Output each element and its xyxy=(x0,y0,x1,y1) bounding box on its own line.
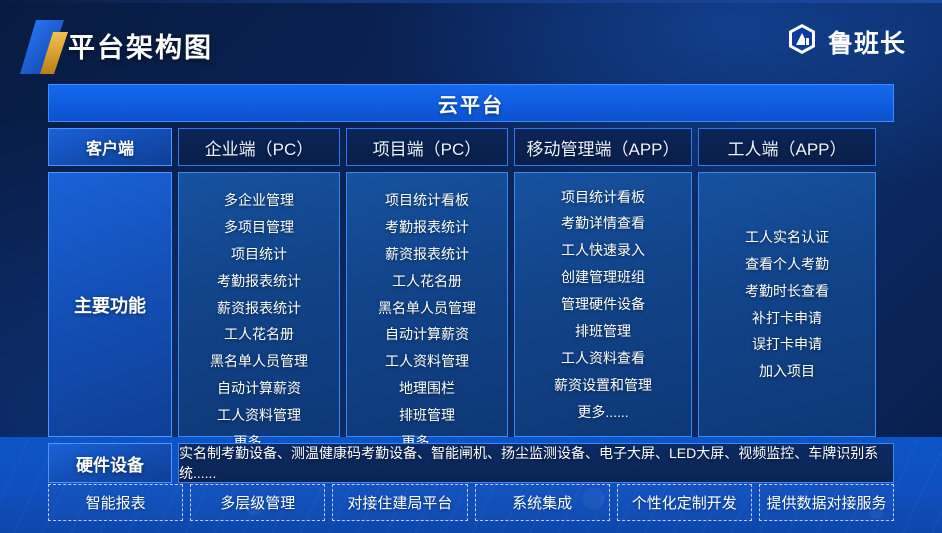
list-item-more[interactable]: 更多...... xyxy=(577,399,628,426)
list-item: 考勤时长查看 xyxy=(745,278,829,305)
list-item: 工人实名认证 xyxy=(745,224,829,251)
column-header-enterprise[interactable]: 企业端（PC） xyxy=(178,128,340,166)
list-item: 自动计算薪资 xyxy=(217,375,301,402)
chip-smart-reports[interactable]: 智能报表 xyxy=(48,484,183,521)
function-list-mobile-admin: 项目统计看板 考勤详情查看 工人快速录入 创建管理班组 管理硬件设备 排班管理 … xyxy=(514,172,692,437)
brand-logo: 鲁班长 xyxy=(785,22,906,61)
hardware-row: 硬件设备 实名制考勤设备、测温健康码考勤设备、智能闸机、扬尘监测设备、电子大屏、… xyxy=(48,443,894,483)
list-item: 地理围栏 xyxy=(399,375,455,402)
chip-multilevel-mgmt[interactable]: 多层级管理 xyxy=(190,484,325,521)
function-list-worker: 工人实名认证 查看个人考勤 考勤时长查看 补打卡申请 误打卡申请 加入项目 xyxy=(698,172,876,437)
list-item: 补打卡申请 xyxy=(752,305,822,332)
hexagon-building-icon xyxy=(785,22,819,61)
column-header-row: 客户端 企业端（PC） 项目端（PC） 移动管理端（APP） 工人端（APP） xyxy=(48,128,894,166)
list-item: 管理硬件设备 xyxy=(561,291,645,318)
platform-architecture-diagram: 平台架构图 鲁班长 云平台 客户端 企业端（PC） 项目端（PC） 移动管理端（… xyxy=(0,0,942,533)
architecture-grid: 云平台 客户端 企业端（PC） 项目端（PC） 移动管理端（APP） 工人端（A… xyxy=(48,84,894,483)
list-item: 多企业管理 xyxy=(224,187,294,214)
list-item: 自动计算薪资 xyxy=(385,321,469,348)
page-title: 平台架构图 xyxy=(68,26,213,65)
list-item: 多项目管理 xyxy=(224,214,294,241)
list-item: 工人资料查看 xyxy=(561,345,645,372)
list-item: 黑名单人员管理 xyxy=(378,295,476,322)
logo-text: 鲁班长 xyxy=(828,24,906,60)
main-functions-row: 主要功能 多企业管理 多项目管理 项目统计 考勤报表统计 薪资报表统计 工人花名… xyxy=(48,172,894,437)
column-header-project[interactable]: 项目端（PC） xyxy=(346,128,508,166)
capability-chip-row: 智能报表 多层级管理 对接住建局平台 系统集成 个性化定制开发 提供数据对接服务 xyxy=(48,484,894,521)
list-item: 工人花名册 xyxy=(392,268,462,295)
cloud-platform-bar: 云平台 xyxy=(48,84,894,122)
function-list-project: 项目统计看板 考勤报表统计 薪资报表统计 工人花名册 黑名单人员管理 自动计算薪… xyxy=(346,172,508,437)
list-item: 项目统计看板 xyxy=(385,187,469,214)
list-item: 加入项目 xyxy=(759,358,815,385)
chip-govt-platform[interactable]: 对接住建局平台 xyxy=(332,484,467,521)
list-item: 黑名单人员管理 xyxy=(210,348,308,375)
list-item: 薪资设置和管理 xyxy=(554,372,652,399)
chip-data-service[interactable]: 提供数据对接服务 xyxy=(759,484,894,521)
list-item: 考勤详情查看 xyxy=(561,210,645,237)
function-list-enterprise: 多企业管理 多项目管理 项目统计 考勤报表统计 薪资报表统计 工人花名册 黑名单… xyxy=(178,172,340,437)
list-item: 误打卡申请 xyxy=(752,331,822,358)
chip-system-integration[interactable]: 系统集成 xyxy=(475,484,610,521)
hardware-device-list: 实名制考勤设备、测温健康码考勤设备、智能闸机、扬尘监测设备、电子大屏、LED大屏… xyxy=(178,443,894,483)
row-label-client: 客户端 xyxy=(48,128,172,166)
list-item: 工人快速录入 xyxy=(561,237,645,264)
list-item: 工人资料管理 xyxy=(217,402,301,429)
list-item: 工人资料管理 xyxy=(385,348,469,375)
list-item: 考勤报表统计 xyxy=(217,268,301,295)
list-item: 创建管理班组 xyxy=(561,264,645,291)
list-item: 工人花名册 xyxy=(224,321,294,348)
list-item: 考勤报表统计 xyxy=(385,214,469,241)
list-item: 薪资报表统计 xyxy=(217,295,301,322)
list-item: 项目统计看板 xyxy=(561,184,645,211)
column-header-worker[interactable]: 工人端（APP） xyxy=(698,128,876,166)
row-label-main-functions: 主要功能 xyxy=(48,172,172,437)
list-item: 薪资报表统计 xyxy=(385,241,469,268)
page-header: 平台架构图 鲁班长 xyxy=(0,0,942,82)
chip-custom-development[interactable]: 个性化定制开发 xyxy=(617,484,752,521)
column-header-mobile-admin[interactable]: 移动管理端（APP） xyxy=(514,128,692,166)
list-item: 排班管理 xyxy=(575,318,631,345)
list-item: 排班管理 xyxy=(399,402,455,429)
list-item: 项目统计 xyxy=(231,241,287,268)
row-label-hardware: 硬件设备 xyxy=(48,443,172,483)
list-item: 查看个人考勤 xyxy=(745,251,829,278)
